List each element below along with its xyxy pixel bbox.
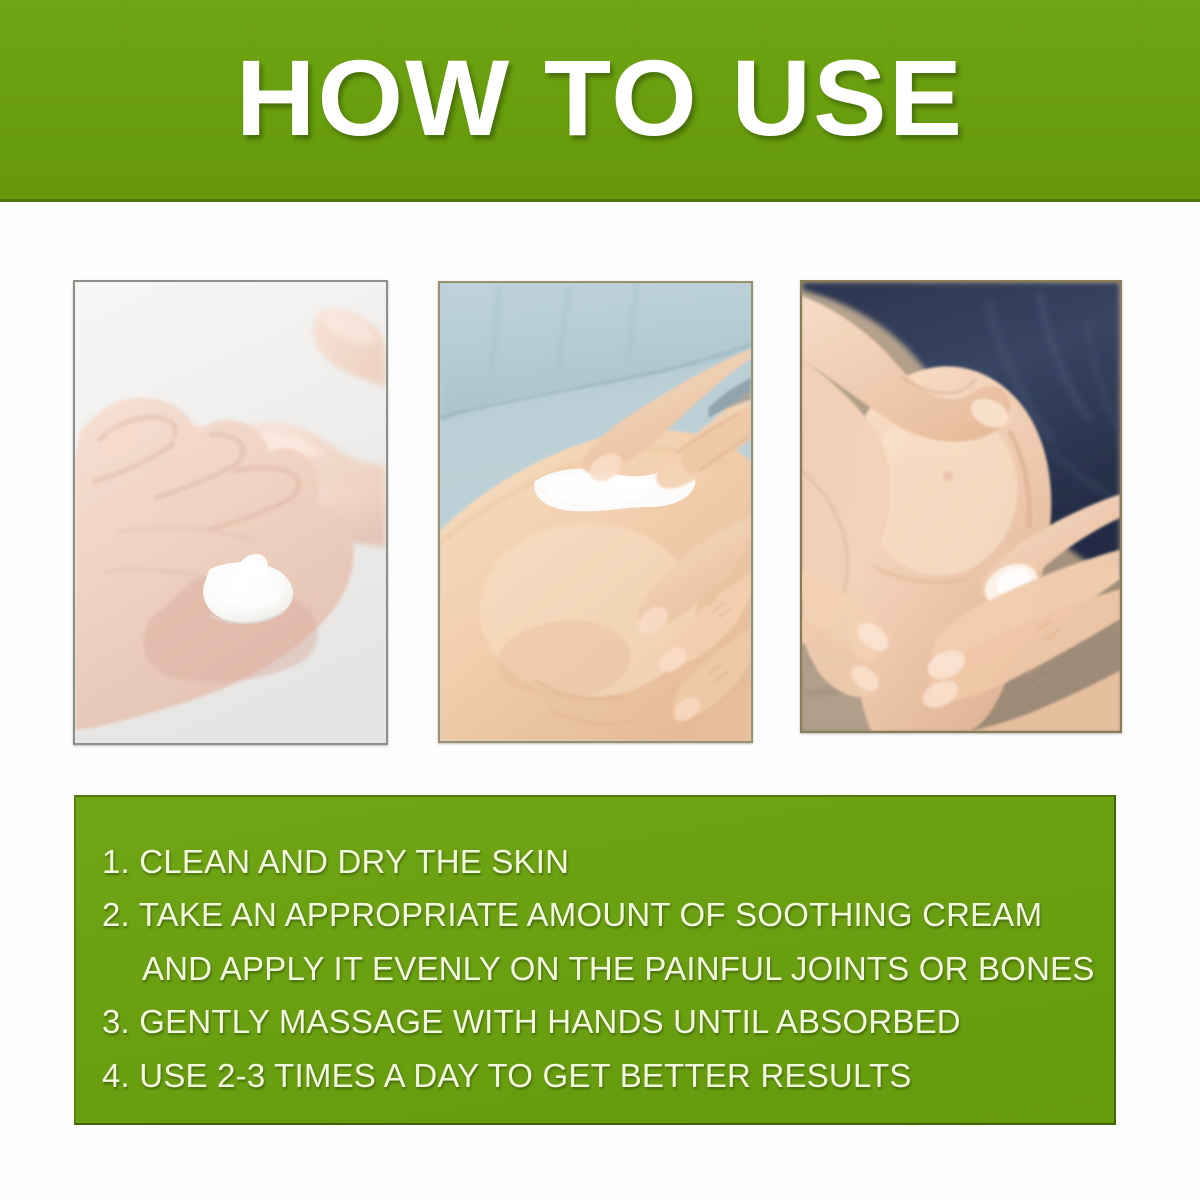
instructions-panel: 1. CLEAN AND DRY THE SKIN 2. TAKE AN APP… bbox=[74, 795, 1116, 1125]
header-banner: HOW TO USE bbox=[0, 0, 1200, 202]
instruction-step-2: 2. TAKE AN APPROPRIATE AMOUNT OF SOOTHIN… bbox=[102, 888, 1084, 941]
instruction-step-3: 3. GENTLY MASSAGE WITH HANDS UNTIL ABSOR… bbox=[102, 995, 1084, 1048]
instruction-step-4: 4. USE 2-3 TIMES A DAY TO GET BETTER RES… bbox=[102, 1049, 1084, 1102]
photo-applying-cream-to-knee bbox=[438, 281, 753, 743]
photo-massaging-knee bbox=[800, 280, 1122, 733]
photo-hand-with-cream-dollop bbox=[73, 280, 388, 745]
photo-applying-cream-to-knee-image bbox=[440, 283, 751, 741]
photo-massaging-knee-image bbox=[802, 282, 1120, 731]
instruction-step-1: 1. CLEAN AND DRY THE SKIN bbox=[102, 835, 1084, 888]
photo-hand-with-cream-dollop-image bbox=[75, 282, 386, 743]
page-title: HOW TO USE bbox=[236, 44, 964, 152]
instruction-step-2-continuation: AND APPLY IT EVENLY ON THE PAINFUL JOINT… bbox=[102, 942, 1084, 995]
photo-row bbox=[0, 278, 1200, 748]
